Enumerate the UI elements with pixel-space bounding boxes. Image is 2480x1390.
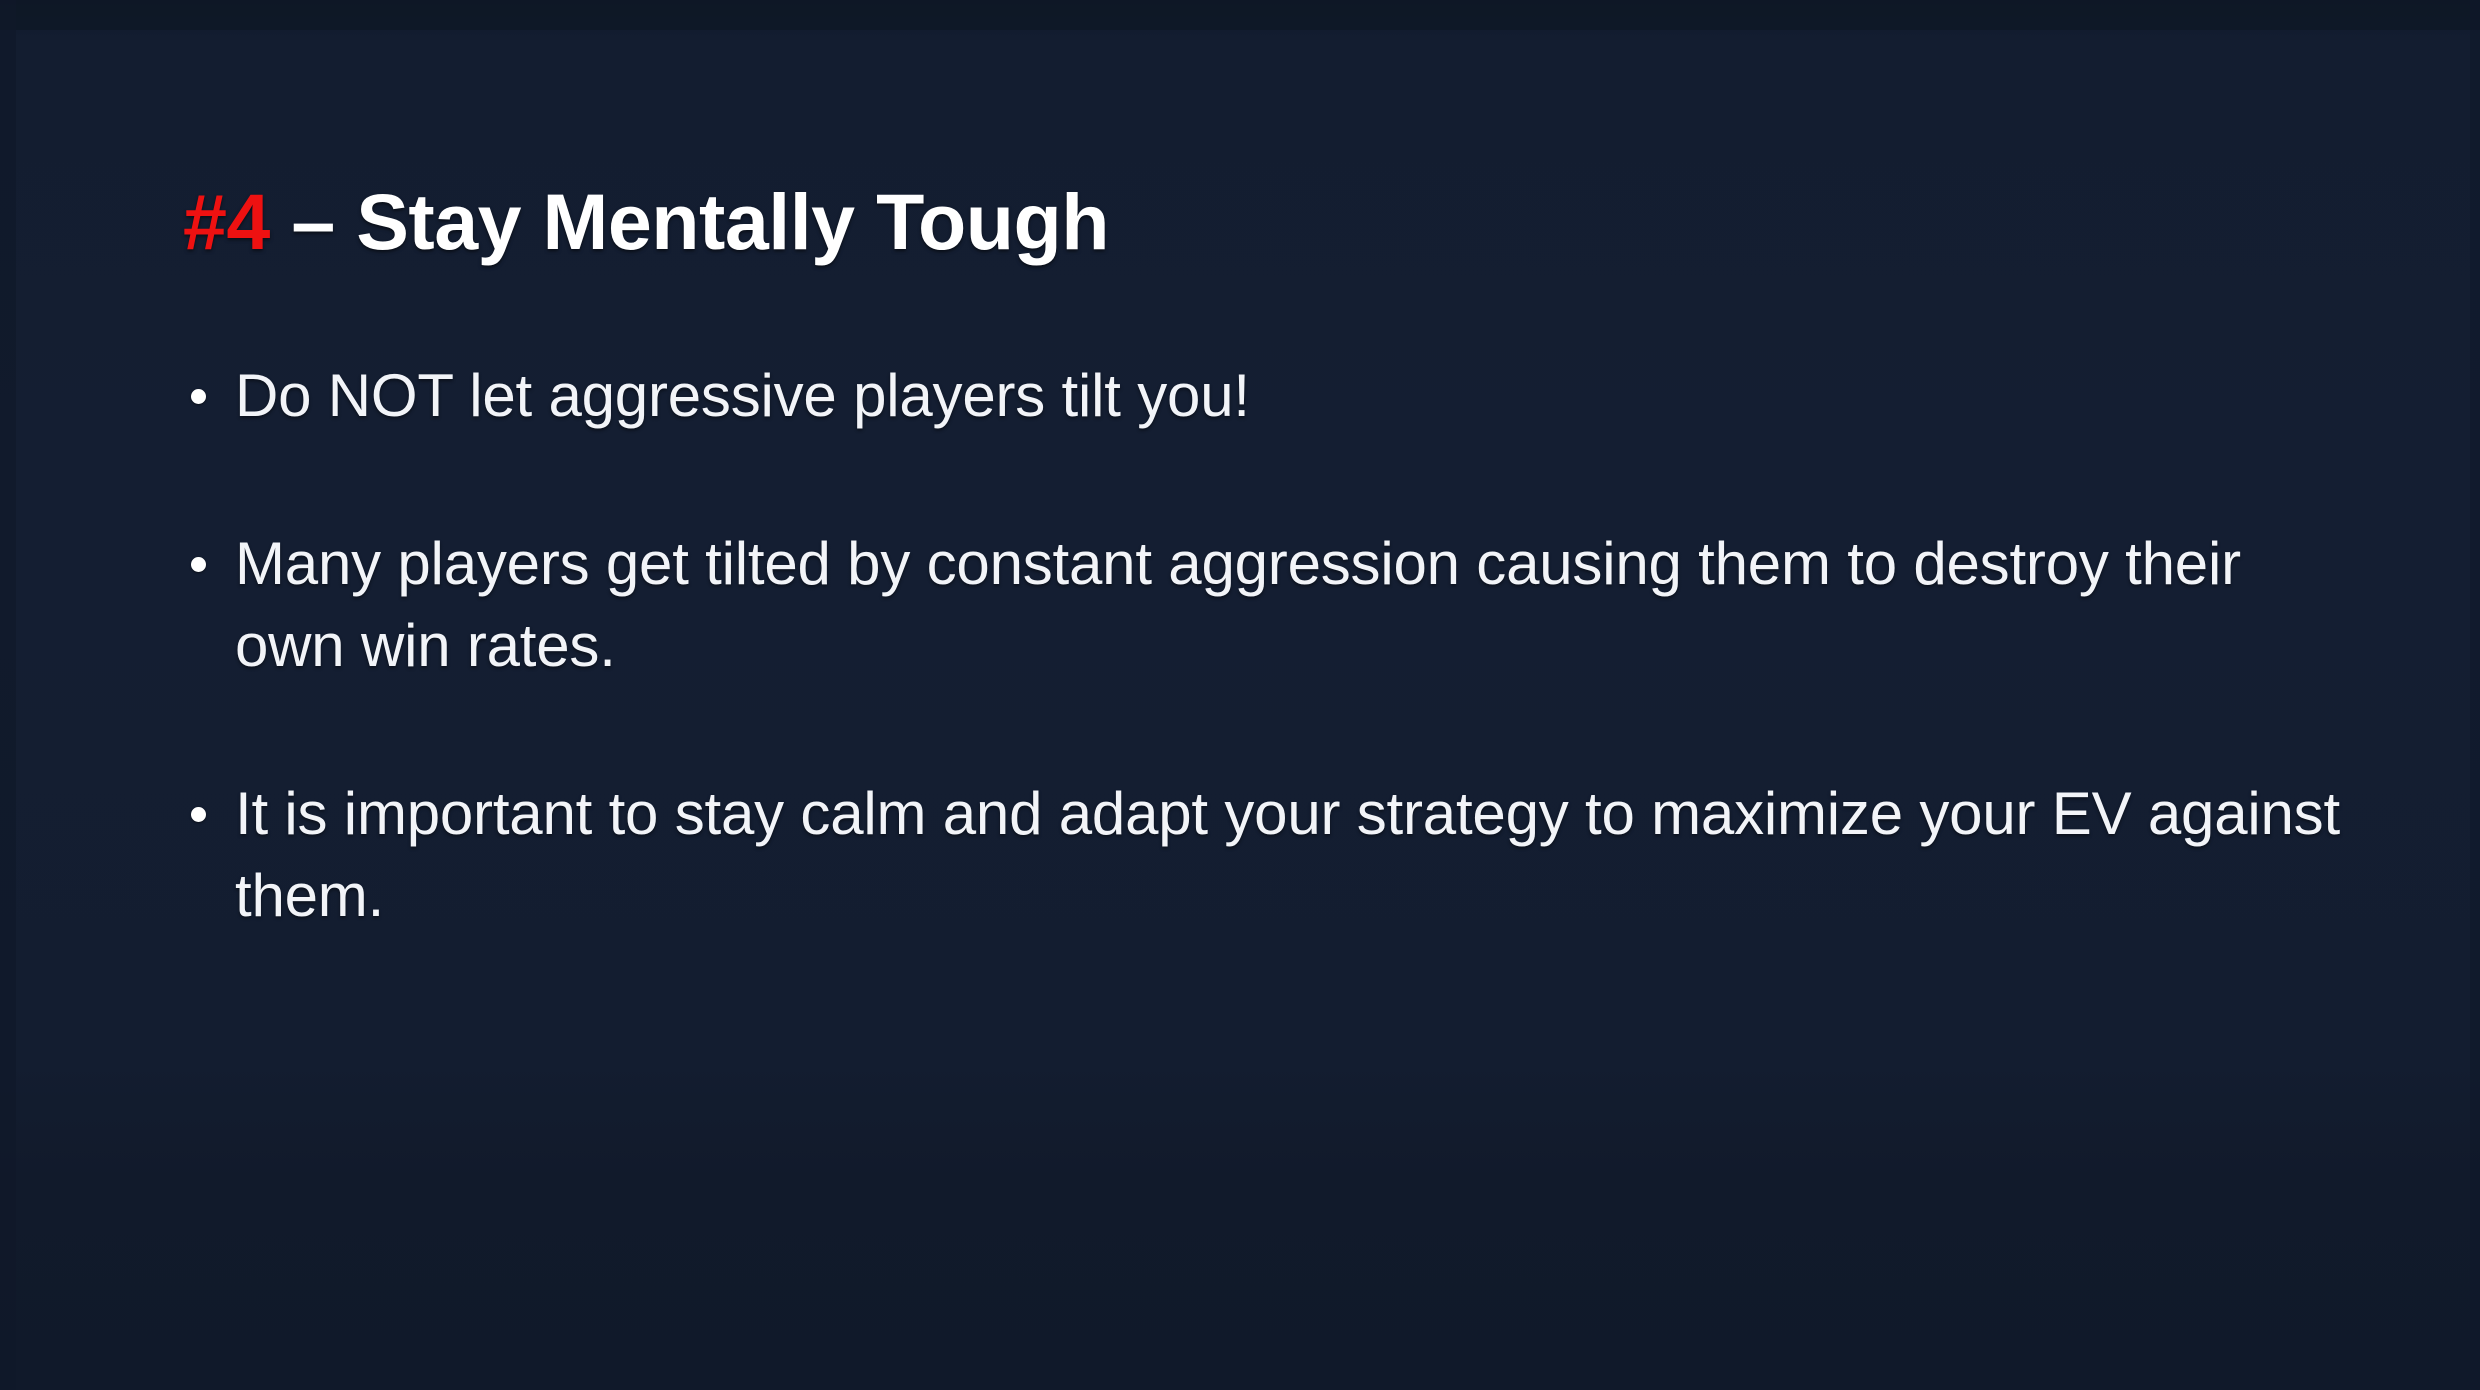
slide-title-separator: – [270, 177, 356, 266]
slide-bullet-list: Do NOT let aggressive players tilt you! … [183, 355, 2363, 937]
slide-title-text: Stay Mentally Tough [356, 177, 1109, 266]
bullet-dot-icon [191, 557, 206, 572]
bullet-dot-icon [191, 389, 206, 404]
list-item: Do NOT let aggressive players tilt you! [183, 355, 2363, 437]
list-item: Many players get tilted by constant aggr… [183, 523, 2363, 687]
bullet-text: It is important to stay calm and adapt y… [235, 773, 2363, 937]
bullet-dot-icon [191, 807, 206, 822]
list-item: It is important to stay calm and adapt y… [183, 773, 2363, 937]
slide-content: #4 – Stay Mentally Tough Do NOT let aggr… [0, 0, 2480, 1390]
slide-title: #4 – Stay Mentally Tough [183, 179, 1109, 266]
presentation-slide: #4 – Stay Mentally Tough Do NOT let aggr… [0, 0, 2480, 1390]
bullet-text: Do NOT let aggressive players tilt you! [235, 355, 2363, 437]
bullet-text: Many players get tilted by constant aggr… [235, 523, 2363, 687]
slide-title-number: #4 [183, 177, 270, 266]
